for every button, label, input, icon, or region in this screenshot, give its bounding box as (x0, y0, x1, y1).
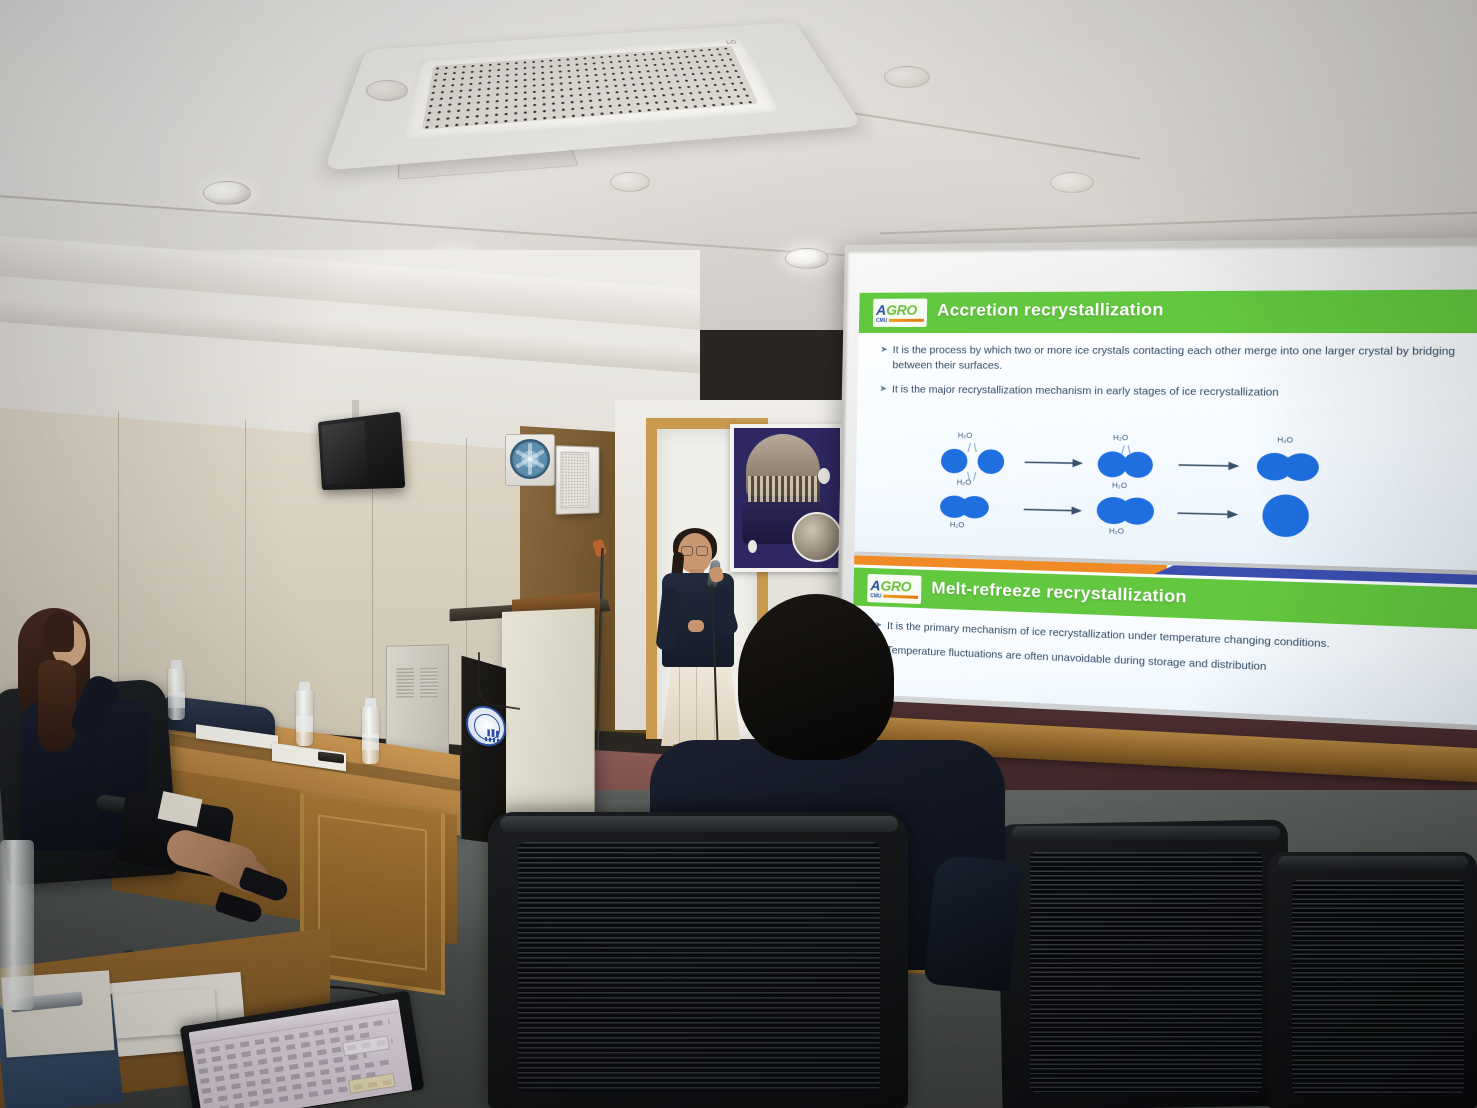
bullet-item: ➤ It is the major recrystallization mech… (879, 382, 1464, 402)
ice-crystal (1123, 452, 1153, 479)
bullet-text: It is the major recrystallization mechan… (892, 382, 1279, 401)
h2o-label: H₂O (950, 520, 965, 530)
ice-crystal-merged-large (1262, 494, 1309, 538)
bullet-text: It is the process by which two or more i… (892, 343, 1465, 376)
arrow-right-icon (1177, 507, 1238, 521)
monitor-screen-reflection (321, 420, 368, 484)
logo-text-gro: GRO (886, 302, 917, 316)
bridge-line (973, 472, 976, 481)
lectern-cables (478, 652, 520, 710)
desk-panel-inner (318, 814, 427, 970)
presenter-hand-left (688, 620, 704, 632)
cabinet-vent (396, 668, 414, 698)
slide-bullet-list: ➤ It is the process by which two or more… (879, 343, 1465, 412)
logo-sub-label: CMU (870, 593, 881, 599)
arrow-right-icon (1025, 456, 1084, 469)
water-bottle (362, 706, 379, 764)
arrow-right-icon (1178, 459, 1239, 473)
bullet-arrow-icon: ➤ (880, 343, 888, 357)
panel-seam (118, 412, 119, 708)
ac-brand-label: LG (725, 39, 738, 45)
bottle-label (168, 692, 185, 708)
ice-crystal-merged (1283, 453, 1319, 481)
bullet-item: ➤ It is the process by which two or more… (880, 343, 1465, 376)
projection-screen: A GRO CMU Accretion recrystallization ➤ … (835, 237, 1477, 762)
slide-title: Accretion recrystallization (937, 300, 1164, 321)
ice-crystal-merging-diagram: H₂O H₂O (909, 430, 1414, 558)
downlight-icon (1050, 172, 1094, 193)
ac-inner-frame: LG (401, 38, 779, 142)
ceiling-monitor (318, 412, 405, 490)
logo-sub-label: CMU (876, 317, 887, 323)
glasses-icon (681, 546, 707, 554)
h2o-label: H₂O (958, 431, 973, 440)
downlight-icon (785, 248, 829, 269)
cabinet-vent (420, 668, 438, 698)
exhaust-fan (505, 434, 555, 486)
water-bottle (296, 690, 313, 746)
bridge-line (968, 443, 971, 452)
poster-accent-dot (748, 540, 757, 553)
downlight-icon (366, 80, 408, 101)
slide-bullet-list: ➤ It is the primary mechanism of ice rec… (874, 618, 1459, 693)
ice-crystal (941, 449, 968, 474)
attendee-hair-length (38, 660, 76, 752)
ice-crystal (977, 449, 1004, 474)
wall-poster (730, 424, 844, 572)
attendee-arm (923, 854, 1022, 992)
chair-mesh-back (518, 842, 880, 1092)
seal-wave-motif (485, 737, 501, 744)
slide-accretion: A GRO CMU Accretion recrystallization ➤ … (854, 290, 1477, 571)
bullet-arrow-icon: ➤ (879, 382, 887, 396)
h2o-label: H₂O (1109, 526, 1124, 536)
bottle-cap (299, 682, 310, 691)
h2o-label: H₂O (1113, 433, 1128, 443)
slides-container: A GRO CMU Accretion recrystallization ➤ … (851, 290, 1477, 726)
chair-mesh-back (1030, 852, 1262, 1092)
seal-inner-ring (474, 712, 500, 742)
h2o-label: H₂O (957, 477, 972, 486)
logo-color-bar (889, 319, 924, 322)
poster-circle-inset (792, 512, 842, 562)
arrow-right-icon (1024, 503, 1083, 517)
wall-speaker (556, 445, 600, 515)
lectern (502, 608, 595, 837)
logo-letter-a: A (870, 578, 880, 592)
ice-crystal (960, 496, 989, 519)
chair-top-rim (1278, 856, 1468, 869)
ice-crystal (1120, 497, 1155, 525)
water-bottle (168, 668, 185, 720)
speaker-grille (561, 451, 590, 508)
bullet-text: Temperature fluctuations are often unavo… (886, 643, 1266, 675)
agro-logo-icon: A GRO CMU (867, 574, 921, 604)
logo-color-bar (884, 595, 919, 599)
attendee-head-back (738, 594, 894, 760)
presenter-skirt (661, 660, 741, 746)
panel-seam (245, 420, 246, 710)
bottle-label (362, 734, 379, 750)
logo-letter-a: A (876, 302, 886, 316)
bottle-cap (365, 698, 376, 707)
attendee-hair-front (44, 612, 74, 652)
water-bottle (0, 840, 34, 1010)
logo-text-gro: GRO (880, 578, 911, 593)
downlight-icon (884, 66, 930, 88)
chair-top-rim (500, 816, 898, 832)
clipboard (0, 994, 123, 1108)
conference-room-photo: LG (0, 0, 1477, 1108)
poster-accent-dot (818, 468, 830, 484)
downlight-icon (610, 172, 650, 192)
h2o-label: H₂O (1277, 435, 1293, 445)
bottle-label (296, 716, 313, 732)
bottle-cap (171, 660, 182, 669)
agro-logo-icon: A GRO CMU (873, 299, 927, 327)
h2o-label: H₂O (1112, 480, 1127, 490)
chair-mesh-back (1292, 880, 1464, 1094)
chair-top-rim (1012, 826, 1280, 840)
downlight-icon (203, 181, 251, 205)
bridge-line (1121, 445, 1124, 454)
fan-blades-icon (510, 439, 550, 479)
ac-grille (422, 46, 759, 130)
bridge-line (974, 443, 977, 452)
glasses-lens (696, 546, 708, 556)
